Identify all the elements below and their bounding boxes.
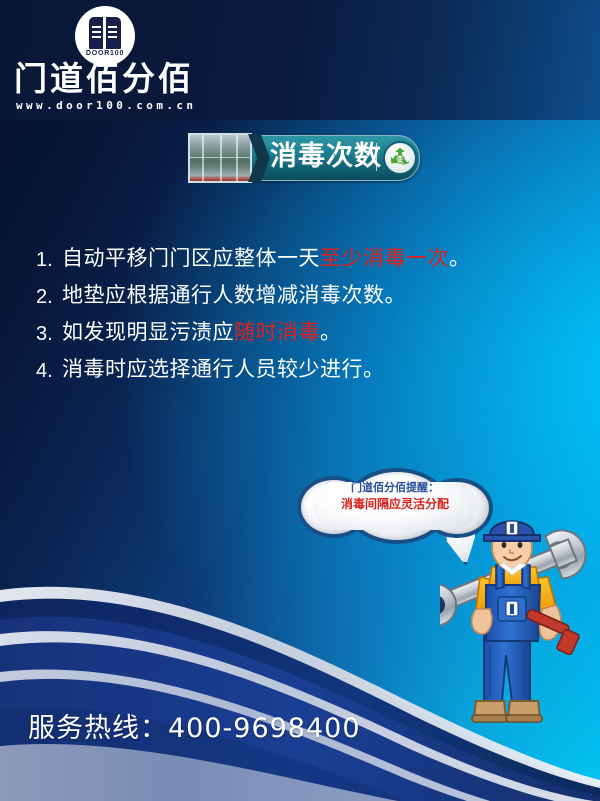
- rule-text: 如发现明显污渍应随时消毒。: [62, 322, 342, 343]
- rule-number: 3.: [36, 322, 62, 344]
- door-mullion: [236, 135, 238, 181]
- door-louver-line: [92, 36, 101, 38]
- banner-title: 消毒次数: [270, 142, 382, 172]
- mascot-eye: [502, 542, 507, 548]
- bubble-line-2: 消毒间隔应灵活分配: [315, 495, 475, 513]
- worker-mascot-icon: [440, 505, 600, 740]
- list-item: 4. 消毒时应选择通行人员较少进行。: [36, 359, 556, 381]
- door-louver-line: [108, 31, 117, 33]
- mascot-helmet: [484, 521, 540, 541]
- door-mullion: [220, 135, 222, 181]
- rule-suffix: 。: [449, 246, 471, 270]
- rule-number: 1.: [36, 248, 62, 270]
- list-item: 3. 如发现明显污渍应随时消毒。: [36, 322, 556, 344]
- mascot-legs: [484, 635, 530, 701]
- rule-number: 2.: [36, 285, 62, 307]
- rule-prefix: 如发现明显污渍应: [62, 320, 234, 344]
- rule-highlight: 随时消毒: [234, 320, 320, 344]
- mascot-boots: [472, 701, 542, 722]
- list-item: 1. 自动平移门门区应整体一天至少消毒一次。: [36, 248, 556, 270]
- mascot-arm-left: [472, 609, 492, 634]
- mascot-strap-left: [496, 565, 504, 589]
- door-mullion: [202, 135, 204, 181]
- door-louver-line: [92, 26, 101, 28]
- mascot-eye: [518, 542, 523, 548]
- rule-text: 地垫应根据通行人数增减消毒次数。: [62, 285, 406, 306]
- door-split-line: [103, 17, 106, 49]
- sliding-door-photo-icon: [188, 133, 252, 183]
- door-louver-line: [108, 36, 117, 38]
- brand-name-cn: 门道佰分佰: [14, 62, 194, 95]
- rule-highlight: 至少消毒一次: [320, 246, 449, 270]
- rule-text: 消毒时应选择通行人员较少进行。: [62, 359, 385, 380]
- hotline-text: 服务热线：400-9698400: [28, 706, 361, 745]
- list-item: 2. 地垫应根据通行人数增减消毒次数。: [36, 285, 556, 307]
- recycle-icon: 消毒: [383, 141, 417, 175]
- title-banner: 消毒次数 消毒: [188, 133, 420, 183]
- bubble-line-1: 门道佰分佰提醒：: [315, 481, 475, 495]
- poster-canvas: DOOR100 门道佰分佰 www.door100.com.cn 消毒次数: [0, 0, 600, 801]
- banner-divider: [376, 143, 377, 171]
- rule-prefix: 自动平移门门区应整体一天: [62, 246, 320, 270]
- mascot-strap-right: [522, 565, 530, 589]
- door-horizon: [190, 157, 252, 158]
- rule-number: 4.: [36, 359, 62, 381]
- bubble-text: 门道佰分佰提醒： 消毒间隔应灵活分配: [315, 481, 475, 513]
- rule-text: 自动平移门门区应整体一天至少消毒一次。: [62, 248, 471, 269]
- door-louver-line: [92, 31, 101, 33]
- rule-prefix: 地垫应根据通行人数增减消毒次数。: [62, 283, 406, 307]
- door-louver-line: [108, 26, 117, 28]
- thumb-image: [190, 135, 250, 181]
- brand-website: www.door100.com.cn: [16, 99, 196, 112]
- logo-wordmark: DOOR100: [75, 50, 135, 57]
- rule-list: 1. 自动平移门门区应整体一天至少消毒一次。 2. 地垫应根据通行人数增减消毒次…: [36, 248, 556, 396]
- rule-prefix: 消毒时应选择通行人员较少进行。: [62, 357, 385, 381]
- rule-suffix: 。: [320, 320, 342, 344]
